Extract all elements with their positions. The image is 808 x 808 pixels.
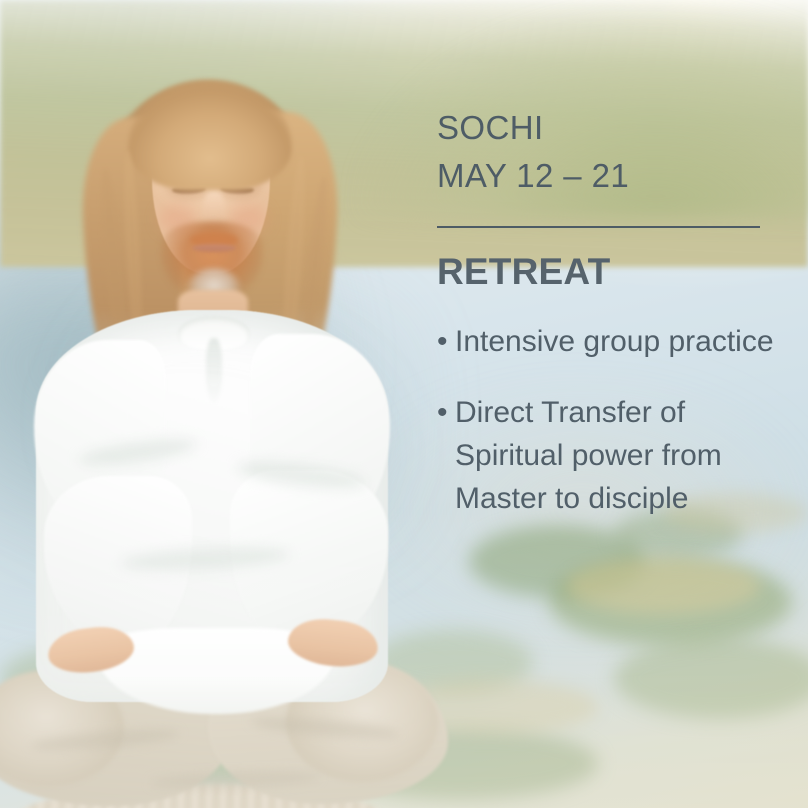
section-title: RETREAT [437, 250, 777, 294]
mouth [192, 244, 236, 252]
straw-tuft [566, 558, 760, 615]
list-item: Intensive group practice [437, 320, 777, 363]
retreat-poster: SOCHI MAY 12 – 21 RETREAT Intensive grou… [0, 0, 808, 808]
event-copy-panel: SOCHI MAY 12 – 21 RETREAT Intensive grou… [437, 104, 777, 520]
meditating-man [0, 72, 420, 808]
feature-list: Intensive group practice Direct Transfer… [437, 320, 777, 520]
list-item: Direct Transfer of Spiritual power from … [437, 391, 777, 520]
shirt-placket [206, 338, 222, 404]
event-city: SOCHI [437, 104, 777, 152]
divider-rule [437, 226, 760, 228]
event-dates: MAY 12 – 21 [437, 152, 777, 200]
